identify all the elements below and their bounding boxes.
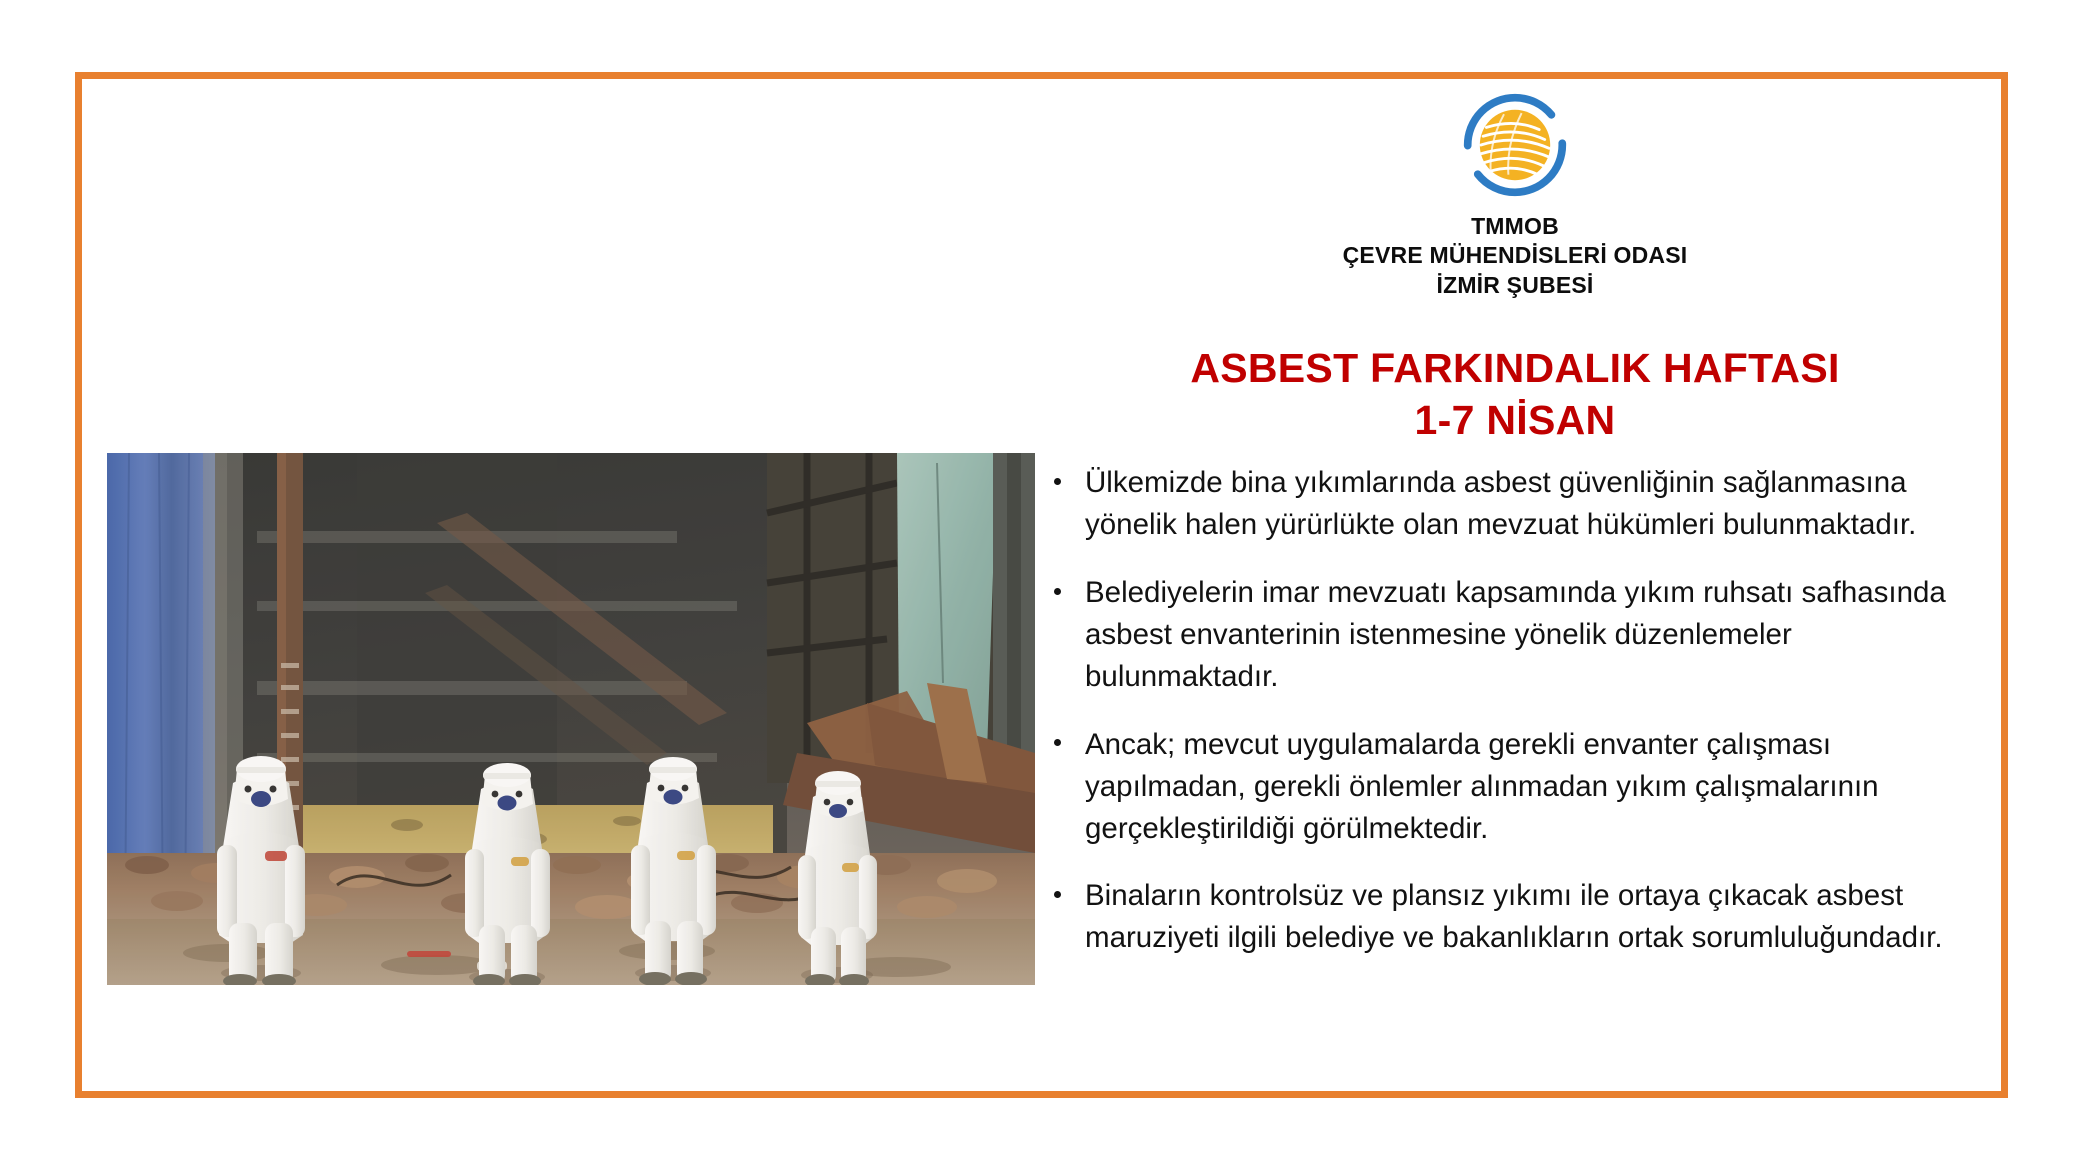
bullet-list: Ülkemizde bina yıkımlarında asbest güven… <box>1040 462 1990 959</box>
bullet-dot-icon <box>1054 739 1061 746</box>
headline-line-2: 1-7 NİSAN <box>1040 394 1990 446</box>
demolition-site-photo <box>107 453 1035 985</box>
list-item: Binaların kontrolsüz ve plansız yıkımı i… <box>1040 875 1990 959</box>
headline-line-1: ASBEST FARKINDALIK HAFTASI <box>1040 342 1990 394</box>
list-item: Belediyelerin imar mevzuatı kapsamında y… <box>1040 572 1990 698</box>
list-item-text: Ülkemizde bina yıkımlarında asbest güven… <box>1085 462 1990 546</box>
organization-header: TMMOB ÇEVRE MÜHENDİSLERİ ODASI İZMİR ŞUB… <box>1040 90 1990 300</box>
right-content-column: TMMOB ÇEVRE MÜHENDİSLERİ ODASI İZMİR ŞUB… <box>1040 90 1990 975</box>
organization-name: TMMOB ÇEVRE MÜHENDİSLERİ ODASI İZMİR ŞUB… <box>1040 212 1990 300</box>
org-line-3: İZMİR ŞUBESİ <box>1040 271 1990 300</box>
org-line-1: TMMOB <box>1040 212 1990 241</box>
list-item-text: Binaların kontrolsüz ve plansız yıkımı i… <box>1085 875 1990 959</box>
bullet-dot-icon <box>1054 588 1061 595</box>
bullet-dot-icon <box>1054 891 1061 898</box>
list-item-text: Belediyelerin imar mevzuatı kapsamında y… <box>1085 572 1990 698</box>
list-item: Ancak; mevcut uygulamalarda gerekli enva… <box>1040 724 1990 850</box>
photo-illustration <box>107 453 1035 985</box>
list-item: Ülkemizde bina yıkımlarında asbest güven… <box>1040 462 1990 546</box>
page-title: ASBEST FARKINDALIK HAFTASI 1-7 NİSAN <box>1040 342 1990 446</box>
list-item-text: Ancak; mevcut uygulamalarda gerekli enva… <box>1085 724 1990 850</box>
org-line-2: ÇEVRE MÜHENDİSLERİ ODASI <box>1040 241 1990 270</box>
slide: TMMOB ÇEVRE MÜHENDİSLERİ ODASI İZMİR ŞUB… <box>0 0 2083 1171</box>
bullet-dot-icon <box>1054 478 1061 485</box>
tmmob-globe-logo-icon <box>1460 90 1570 200</box>
